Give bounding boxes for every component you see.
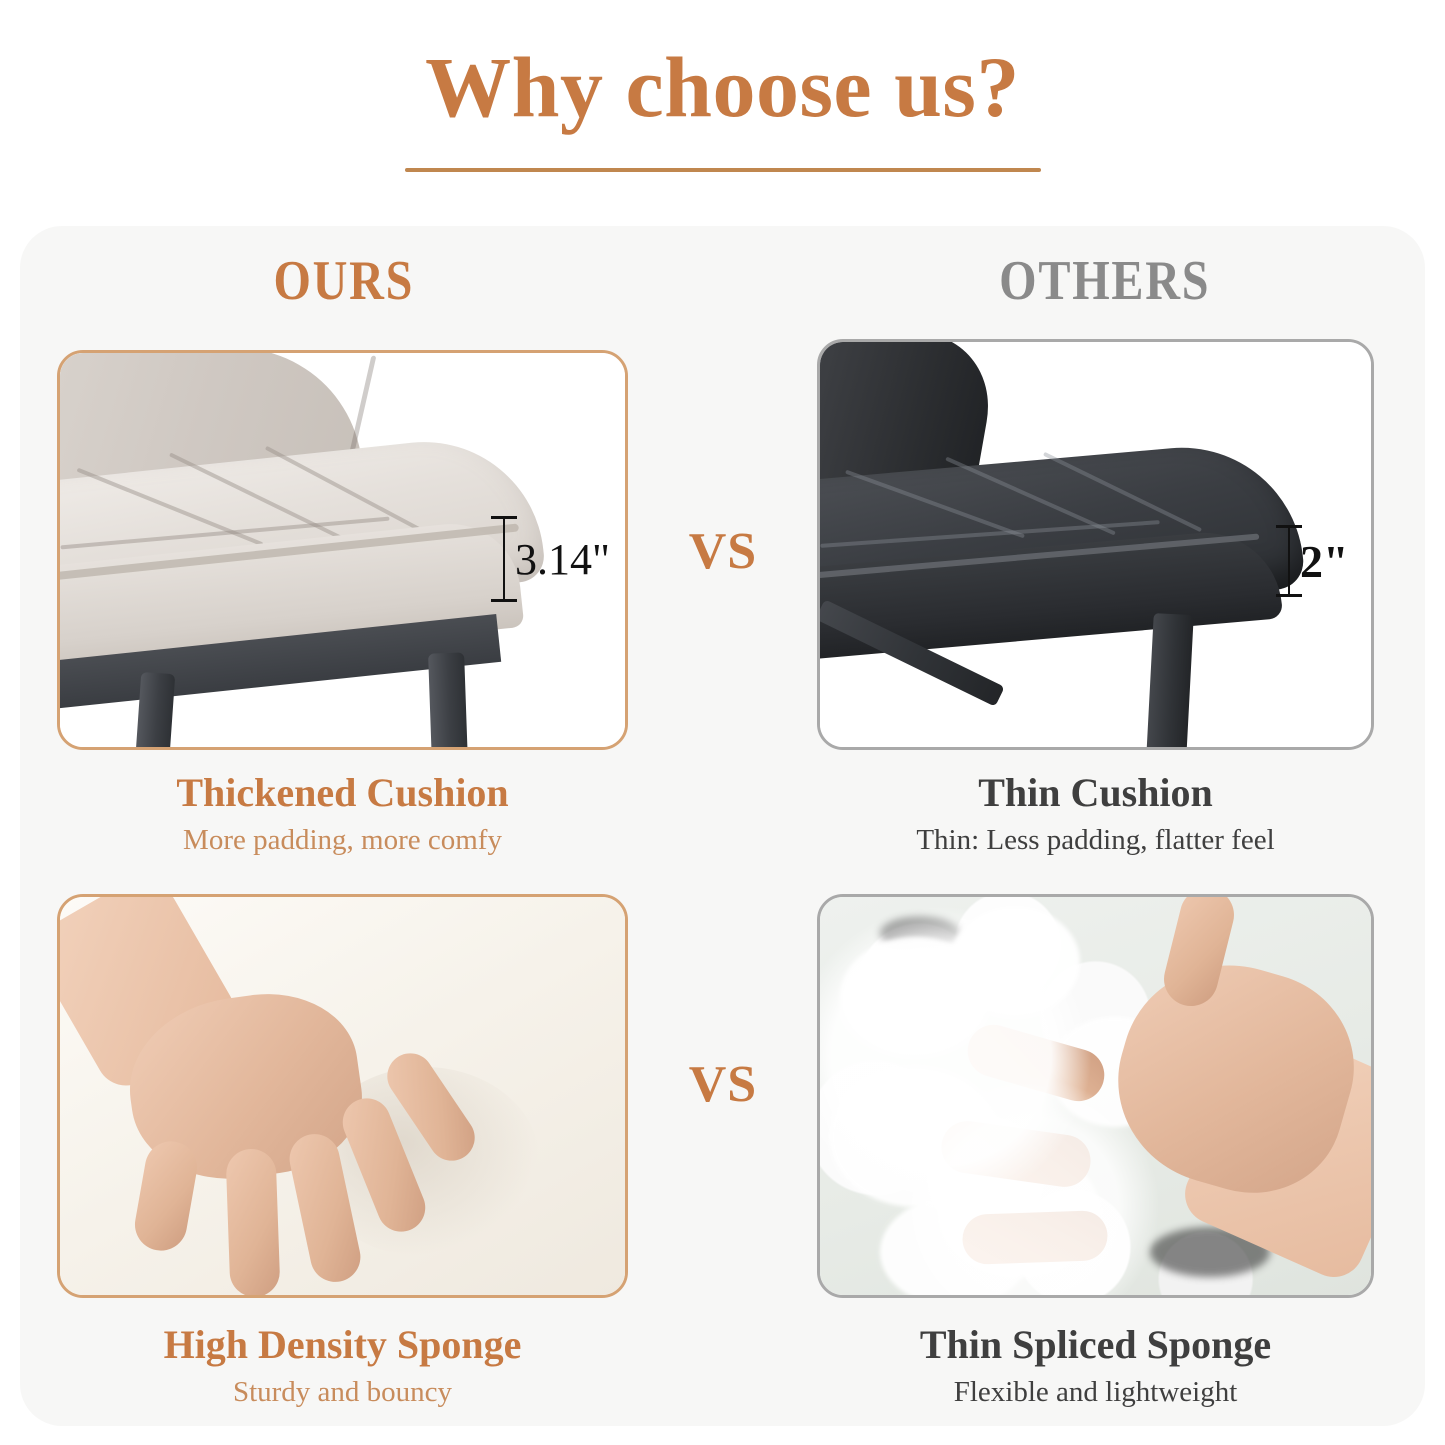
chair-leg	[135, 672, 176, 750]
caption-title: Thickened Cushion	[57, 770, 628, 816]
fiber-clump	[950, 907, 1080, 1017]
infographic-page: Why choose us? OURS OTHERS 3.14"	[0, 0, 1445, 1445]
caption-subtitle: Flexible and lightweight	[817, 1376, 1374, 1409]
photo-high-density-foam	[60, 897, 625, 1295]
column-heading-others: OTHERS	[999, 253, 1210, 309]
dimension-line	[1288, 525, 1290, 597]
caption-subtitle: Thin: Less padding, flatter feel	[817, 824, 1374, 857]
dimension-label: 2"	[1300, 535, 1349, 588]
hand-finger	[225, 1148, 280, 1298]
card-ours-sponge	[57, 894, 628, 1298]
chair-leg	[428, 652, 468, 750]
header: Why choose us?	[0, 42, 1445, 172]
photo-spliced-fiber-fill	[820, 897, 1371, 1295]
caption-subtitle: Sturdy and bouncy	[57, 1376, 628, 1409]
caption-title: Thin Cushion	[817, 770, 1374, 816]
title-underline-rule	[405, 168, 1041, 172]
column-heading-ours: OURS	[273, 253, 414, 309]
hand-finger	[131, 1137, 201, 1254]
page-title: Why choose us?	[0, 42, 1445, 132]
dimension-label: 3.14"	[515, 534, 610, 585]
dimension-annotation-others-cushion: 2"	[1288, 525, 1349, 597]
caption-ours-sponge: High Density Sponge Sturdy and bouncy	[57, 1322, 628, 1409]
vs-marker-row1: VS	[653, 522, 793, 581]
hand-finger	[962, 1210, 1109, 1265]
vs-marker-row2: VS	[653, 1055, 793, 1114]
caption-ours-cushion: Thickened Cushion More padding, more com…	[57, 770, 628, 857]
dimension-annotation-ours-cushion: 3.14"	[503, 516, 610, 602]
caption-subtitle: More padding, more comfy	[57, 824, 628, 857]
chair-leg	[1146, 613, 1194, 750]
caption-others-sponge: Thin Spliced Sponge Flexible and lightwe…	[817, 1322, 1374, 1409]
caption-others-cushion: Thin Cushion Thin: Less padding, flatter…	[817, 770, 1374, 857]
dimension-line	[503, 516, 505, 602]
card-others-sponge	[817, 894, 1374, 1298]
caption-title: High Density Sponge	[57, 1322, 628, 1368]
caption-title: Thin Spliced Sponge	[817, 1322, 1374, 1368]
